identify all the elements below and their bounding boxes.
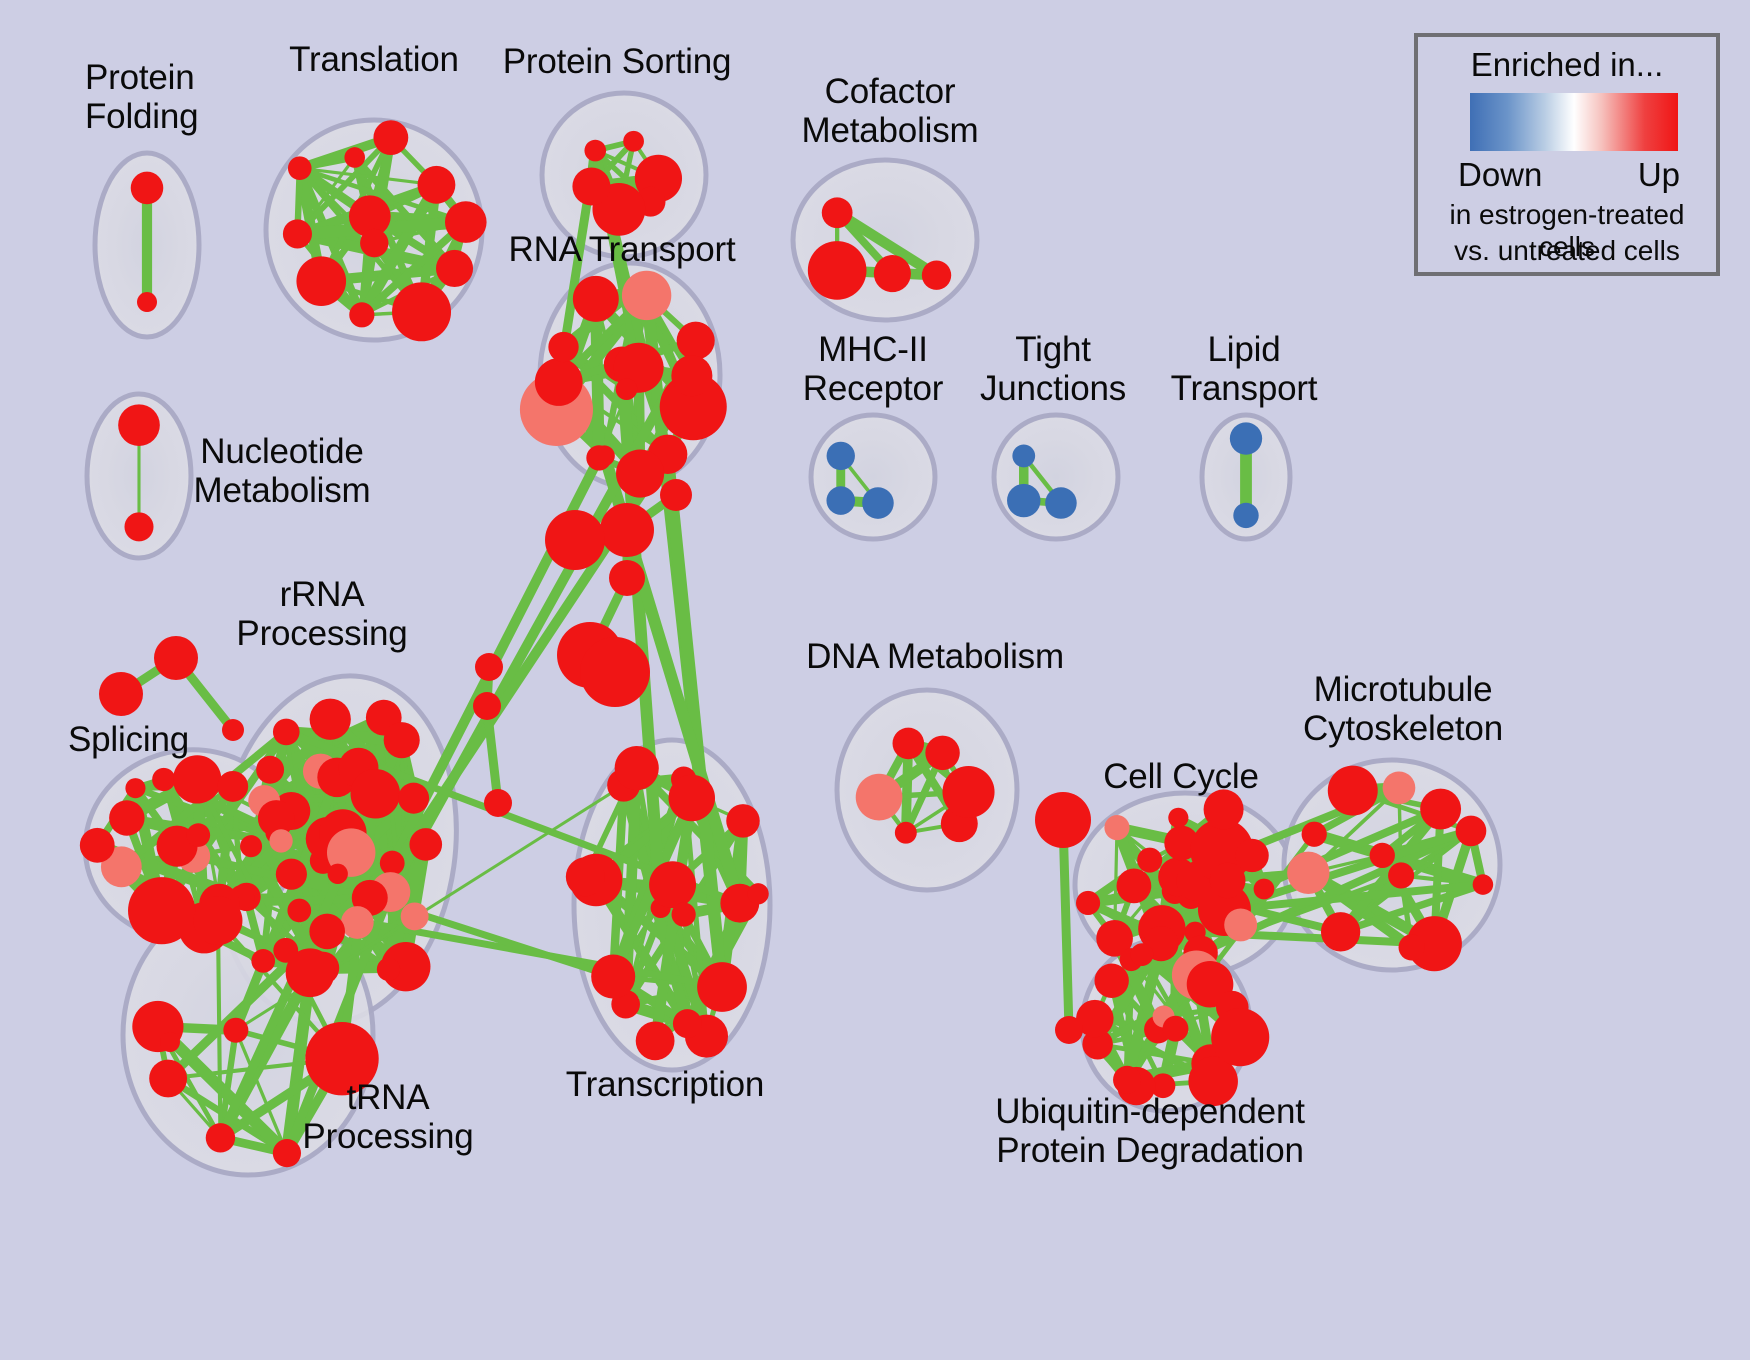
legend-panel: Enriched in... Down Up in estrogen-treat… (1414, 33, 1720, 276)
cluster-label-lipid-transport: Lipid Transport (1171, 330, 1318, 408)
network-node[interactable] (349, 302, 374, 327)
cluster-label-translation: Translation (289, 40, 459, 79)
network-node[interactable] (173, 755, 221, 803)
network-node[interactable] (726, 804, 760, 838)
network-node[interactable] (373, 120, 408, 155)
network-node[interactable] (286, 948, 335, 997)
enrichment-map-figure: Protein FoldingTranslationProtein Sortin… (0, 0, 1750, 1360)
network-node[interactable] (649, 861, 696, 908)
cluster-label-tight-junctions: Tight Junctions (980, 330, 1126, 408)
network-node[interactable] (573, 276, 619, 322)
network-node[interactable] (380, 851, 405, 876)
network-node[interactable] (1420, 789, 1461, 830)
cluster-hull-mhc-ii-receptor (811, 415, 935, 539)
network-node[interactable] (622, 271, 671, 320)
network-node[interactable] (160, 1032, 180, 1052)
network-node[interactable] (925, 736, 959, 770)
network-node[interactable] (580, 637, 650, 707)
network-node[interactable] (922, 261, 951, 290)
network-node[interactable] (128, 877, 195, 944)
cluster-label-nucleotide-metabolism: Nucleotide Metabolism (194, 432, 371, 510)
network-node[interactable] (584, 140, 606, 162)
network-node[interactable] (445, 201, 487, 243)
legend-color-bar (1470, 93, 1678, 151)
network-node[interactable] (548, 332, 578, 362)
network-node[interactable] (377, 958, 400, 981)
network-node[interactable] (636, 1021, 675, 1060)
network-node[interactable] (288, 156, 312, 180)
network-node[interactable] (344, 147, 365, 168)
network-node[interactable] (895, 822, 917, 844)
network-node[interactable] (1210, 863, 1246, 899)
cluster-label-rrna-processing: rRNA Processing (236, 575, 407, 653)
network-node[interactable] (475, 653, 503, 681)
network-node[interactable] (351, 769, 401, 819)
cluster-label-cell-cycle: Cell Cycle (1103, 757, 1259, 796)
network-node[interactable] (623, 131, 644, 152)
network-node[interactable] (1287, 852, 1329, 894)
network-node[interactable] (1035, 792, 1091, 848)
network-node[interactable] (1131, 943, 1154, 966)
network-node[interactable] (251, 949, 275, 973)
network-node[interactable] (194, 896, 243, 945)
cluster-label-microtubule-cytoskeleton: Microtubule Cytoskeleton (1303, 670, 1503, 748)
network-node[interactable] (1163, 1016, 1189, 1042)
network-node[interactable] (572, 167, 610, 205)
network-node[interactable] (269, 829, 292, 852)
network-node[interactable] (310, 699, 351, 740)
network-node[interactable] (615, 746, 659, 790)
network-node[interactable] (137, 292, 157, 312)
network-node[interactable] (283, 219, 312, 248)
network-node[interactable] (1012, 445, 1035, 468)
network-node[interactable] (856, 774, 903, 821)
cluster-label-transcription: Transcription (566, 1065, 764, 1104)
network-node[interactable] (409, 828, 442, 861)
network-node[interactable] (1211, 1008, 1269, 1066)
network-node[interactable] (586, 445, 611, 470)
network-node[interactable] (398, 783, 429, 814)
network-node[interactable] (118, 404, 160, 446)
network-node[interactable] (217, 771, 248, 802)
network-node[interactable] (1473, 874, 1494, 895)
network-node[interactable] (1055, 1016, 1083, 1044)
network-node[interactable] (154, 636, 198, 680)
network-node[interactable] (273, 1139, 301, 1167)
network-node[interactable] (186, 823, 210, 847)
network-node[interactable] (341, 906, 374, 939)
legend-high-label: Up (1638, 156, 1680, 194)
network-node[interactable] (1235, 839, 1268, 872)
cluster-label-dna-metabolism: DNA Metabolism (806, 637, 1064, 676)
network-node[interactable] (826, 486, 855, 515)
network-node[interactable] (616, 378, 638, 400)
network-node[interactable] (287, 899, 311, 923)
legend-low-label: Down (1458, 156, 1542, 194)
network-node[interactable] (149, 1060, 187, 1098)
network-node[interactable] (1254, 879, 1275, 900)
network-node[interactable] (808, 241, 867, 300)
network-node[interactable] (401, 902, 429, 930)
network-node[interactable] (942, 766, 994, 818)
network-node[interactable] (609, 560, 645, 596)
network-node[interactable] (1230, 422, 1262, 454)
network-node[interactable] (125, 778, 145, 798)
network-node[interactable] (600, 503, 654, 557)
network-node[interactable] (893, 728, 925, 760)
network-node[interactable] (1117, 869, 1152, 904)
network-node[interactable] (240, 835, 262, 857)
network-node[interactable] (1233, 503, 1258, 528)
network-node[interactable] (436, 250, 473, 287)
network-node[interactable] (591, 955, 635, 999)
network-node[interactable] (273, 719, 300, 746)
network-node[interactable] (222, 719, 244, 741)
cluster-label-ubiquitin-protein-degradation: Ubiquitin-dependent Protein Degradation (995, 1092, 1305, 1170)
network-node[interactable] (384, 722, 420, 758)
network-node[interactable] (673, 1009, 702, 1038)
network-node[interactable] (748, 883, 769, 904)
network-node[interactable] (697, 962, 747, 1012)
network-node[interactable] (616, 449, 664, 497)
network-node[interactable] (223, 1018, 248, 1043)
network-node[interactable] (473, 692, 501, 720)
network-node[interactable] (360, 229, 388, 257)
network-node[interactable] (1094, 964, 1128, 998)
network-node[interactable] (1045, 487, 1077, 519)
network-node[interactable] (1302, 822, 1327, 847)
network-node[interactable] (256, 756, 284, 784)
cluster-label-protein-sorting: Protein Sorting (503, 42, 732, 81)
network-node[interactable] (1321, 912, 1360, 951)
network-node[interactable] (276, 859, 307, 890)
network-node[interactable] (296, 256, 346, 306)
network-node[interactable] (827, 442, 855, 470)
network-node[interactable] (309, 914, 345, 950)
network-node[interactable] (672, 902, 696, 926)
legend-subtitle-line2: vs. untreated cells (1418, 235, 1716, 267)
network-node[interactable] (1370, 843, 1395, 868)
network-node[interactable] (566, 857, 605, 896)
cluster-hull-tight-junctions (994, 415, 1118, 539)
network-node[interactable] (677, 322, 715, 360)
network-node[interactable] (124, 512, 153, 541)
network-node[interactable] (1113, 1066, 1141, 1094)
network-node[interactable] (392, 282, 451, 341)
network-node[interactable] (822, 197, 853, 228)
network-node[interactable] (1076, 891, 1100, 915)
network-node[interactable] (1399, 934, 1425, 960)
cluster-label-trna-processing: tRNA Processing (302, 1078, 473, 1156)
network-node[interactable] (80, 828, 115, 863)
network-edge (1063, 820, 1069, 1030)
network-node[interactable] (671, 355, 712, 396)
cluster-label-mhc-ii-receptor: MHC-II Receptor (803, 330, 943, 408)
network-node[interactable] (1328, 766, 1378, 816)
network-node[interactable] (862, 487, 894, 519)
cluster-label-protein-folding: Protein Folding (85, 58, 198, 136)
network-node[interactable] (1224, 908, 1257, 941)
network-node[interactable] (1007, 484, 1040, 517)
network-node[interactable] (1137, 848, 1162, 873)
network-node[interactable] (669, 775, 715, 821)
network-node[interactable] (484, 789, 512, 817)
network-node[interactable] (874, 255, 911, 292)
cluster-label-cofactor-metabolism: Cofactor Metabolism (802, 72, 979, 150)
network-node[interactable] (1456, 816, 1487, 847)
legend-title: Enriched in... (1418, 46, 1716, 84)
network-node[interactable] (109, 800, 144, 835)
network-node[interactable] (206, 1123, 235, 1152)
cluster-label-splicing: Splicing (68, 720, 189, 759)
network-node[interactable] (545, 510, 605, 570)
network-node[interactable] (328, 864, 348, 884)
cluster-label-rna-transport: RNA Transport (509, 230, 736, 269)
network-node[interactable] (660, 479, 692, 511)
network-node[interactable] (1383, 772, 1416, 805)
network-node[interactable] (418, 166, 456, 204)
network-node[interactable] (1168, 808, 1188, 828)
network-node[interactable] (535, 358, 583, 406)
network-node[interactable] (131, 172, 164, 205)
network-node[interactable] (1388, 862, 1414, 888)
network-node[interactable] (1104, 815, 1129, 840)
network-node[interactable] (99, 672, 143, 716)
network-node[interactable] (152, 768, 175, 791)
